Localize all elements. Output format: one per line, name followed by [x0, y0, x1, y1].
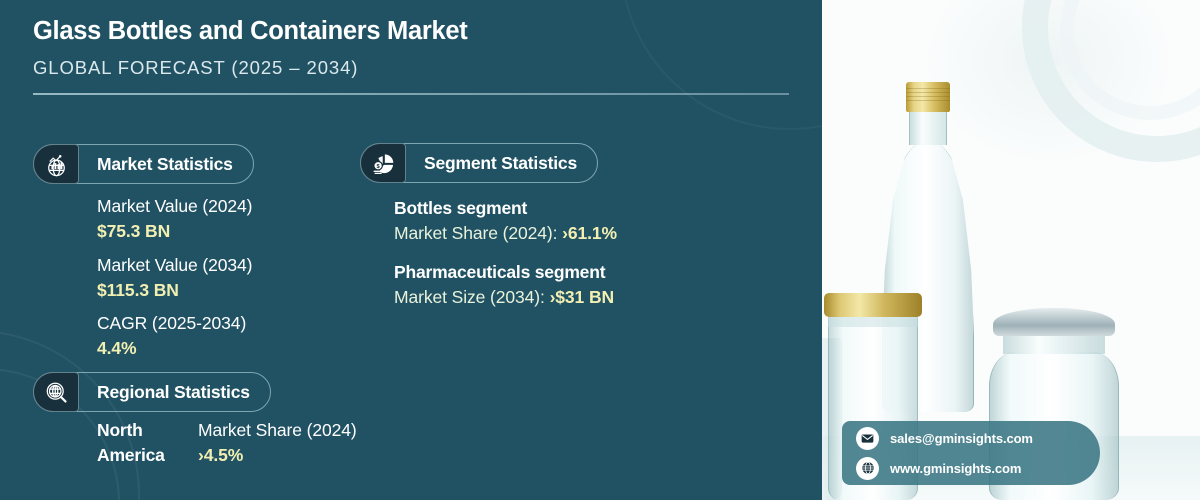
header-divider — [33, 93, 789, 95]
region-metric: Market Share (2024) ›4.5% — [198, 418, 357, 468]
regional-statistics-list: North America Market Share (2024) ›4.5% — [97, 418, 357, 468]
segment-title: Bottles segment — [394, 196, 734, 221]
stat-value: 4.4% — [97, 336, 347, 361]
segment-statistics-list: Bottles segment Market Share (2024): ›61… — [394, 196, 734, 309]
segment-item: Bottles segment Market Share (2024): ›61… — [394, 196, 734, 246]
region-metric-label: Market Share (2024) — [198, 418, 357, 443]
stat-label: Market Value (2034) — [97, 253, 347, 278]
pie-chart-dollar-icon: $ — [360, 143, 406, 183]
globe-icon — [856, 457, 879, 480]
contact-email-row[interactable]: sales@gminsights.com — [856, 427, 1100, 450]
segment-title: Pharmaceuticals segment — [394, 260, 734, 285]
content-panel: Glass Bottles and Containers Market GLOB… — [0, 0, 822, 500]
jar-gold-lid — [824, 293, 922, 317]
jar-neck — [1003, 334, 1105, 354]
contact-website: www.gminsights.com — [890, 461, 1021, 476]
bottle-gold-cap — [906, 82, 950, 112]
page-title: Glass Bottles and Containers Market — [33, 16, 793, 47]
jar-silver-lid — [993, 308, 1115, 336]
bottle-neck — [909, 111, 947, 145]
product-photo: G MI Global Market Insights sales@gminsi… — [822, 0, 1200, 500]
segment-metric-label: Market Share (2024): — [394, 223, 562, 243]
page-subtitle: GLOBAL FORECAST (2025 – 2034) — [33, 57, 793, 79]
envelope-icon — [856, 427, 879, 450]
contact-email: sales@gminsights.com — [890, 431, 1033, 446]
section-label-market-statistics: Market Statistics — [97, 154, 233, 175]
stat-item: Market Value (2024) $75.3 BN — [97, 194, 347, 244]
segment-metric: Market Size (2034): ›$31 BN — [394, 285, 734, 310]
region-metric-value: ›4.5% — [198, 443, 357, 468]
stat-label: CAGR (2025-2034) — [97, 311, 347, 336]
stat-label: Market Value (2024) — [97, 194, 347, 219]
stat-item: Market Value (2034) $115.3 BN — [97, 253, 347, 303]
globe-magnifier-icon — [33, 372, 79, 412]
segment-metric: Market Share (2024): ›61.1% — [394, 221, 734, 246]
segment-metric-label: Market Size (2034): — [394, 287, 550, 307]
segment-metric-value: ›$31 BN — [550, 287, 614, 307]
section-label-segment-statistics: Segment Statistics — [424, 153, 577, 174]
segment-item: Pharmaceuticals segment Market Size (203… — [394, 260, 734, 310]
region-name: North America — [97, 418, 185, 468]
section-header-market-statistics: Market Statistics — [33, 144, 254, 184]
contact-website-row[interactable]: www.gminsights.com — [856, 457, 1100, 480]
market-statistics-list: Market Value (2024) $75.3 BN Market Valu… — [97, 194, 347, 361]
contact-bar: sales@gminsights.com www.gminsights.com — [842, 421, 1100, 485]
globe-bar-chart-icon — [33, 144, 79, 184]
section-label-regional-statistics: Regional Statistics — [97, 382, 250, 403]
stat-item: CAGR (2025-2034) 4.4% — [97, 311, 347, 361]
stat-value: $115.3 BN — [97, 278, 347, 303]
stat-value: $75.3 BN — [97, 219, 347, 244]
section-header-segment-statistics: $ Segment Statistics — [360, 143, 598, 183]
infographic-root: Glass Bottles and Containers Market GLOB… — [0, 0, 1200, 500]
segment-metric-value: ›61.1% — [562, 223, 617, 243]
section-header-regional-statistics: Regional Statistics — [33, 372, 271, 412]
header: Glass Bottles and Containers Market GLOB… — [33, 16, 793, 95]
